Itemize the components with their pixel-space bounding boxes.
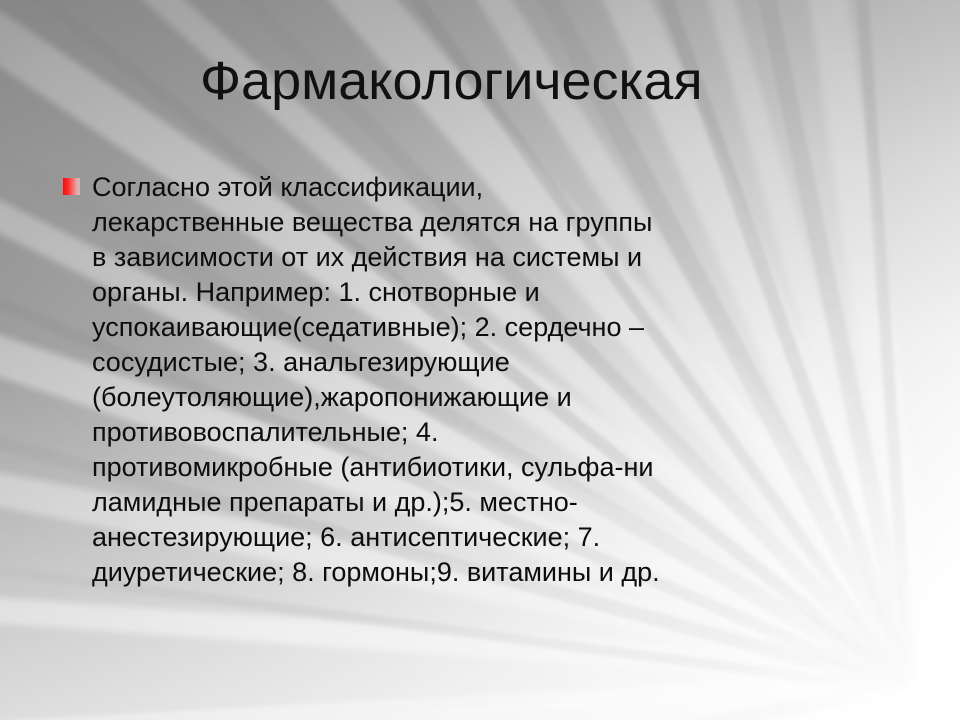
- body-line: лекарственные вещества делятся на группы: [92, 205, 940, 240]
- body-line: органы. Например: 1. снотворные и: [92, 275, 940, 310]
- bullet-item: Согласно этой классификации,лекарственны…: [60, 170, 940, 590]
- body-line: сосудистые; 3. анальгезирующие: [92, 345, 940, 380]
- bullet-item-text: Согласно этой классификации,лекарственны…: [92, 170, 940, 590]
- slide-title: Фармакологическая: [200, 52, 900, 110]
- body-line: анестезирующие; 6. антисептические; 7.: [92, 520, 940, 555]
- body-line: в зависимости от их действия на системы …: [92, 240, 940, 275]
- body-line: противовоспалительные; 4.: [92, 415, 940, 450]
- red-square-bullet-icon: [63, 178, 80, 195]
- body-line: ламидные препараты и др.);5. местно-: [92, 485, 940, 520]
- slide-body: Согласно этой классификации,лекарственны…: [60, 170, 940, 590]
- body-line: противомикробные (антибиотики, сульфа-ни: [92, 450, 940, 485]
- presentation-slide: Фармакологическая Согласно этой классифи…: [0, 0, 960, 720]
- body-line: успокаивающие(седативные); 2. сердечно –: [92, 310, 940, 345]
- body-line: Согласно этой классификации,: [92, 170, 940, 205]
- body-line: диуретические; 8. гормоны;9. витамины и …: [92, 555, 940, 590]
- body-line: (болеутоляющие),жаропонижающие и: [92, 380, 940, 415]
